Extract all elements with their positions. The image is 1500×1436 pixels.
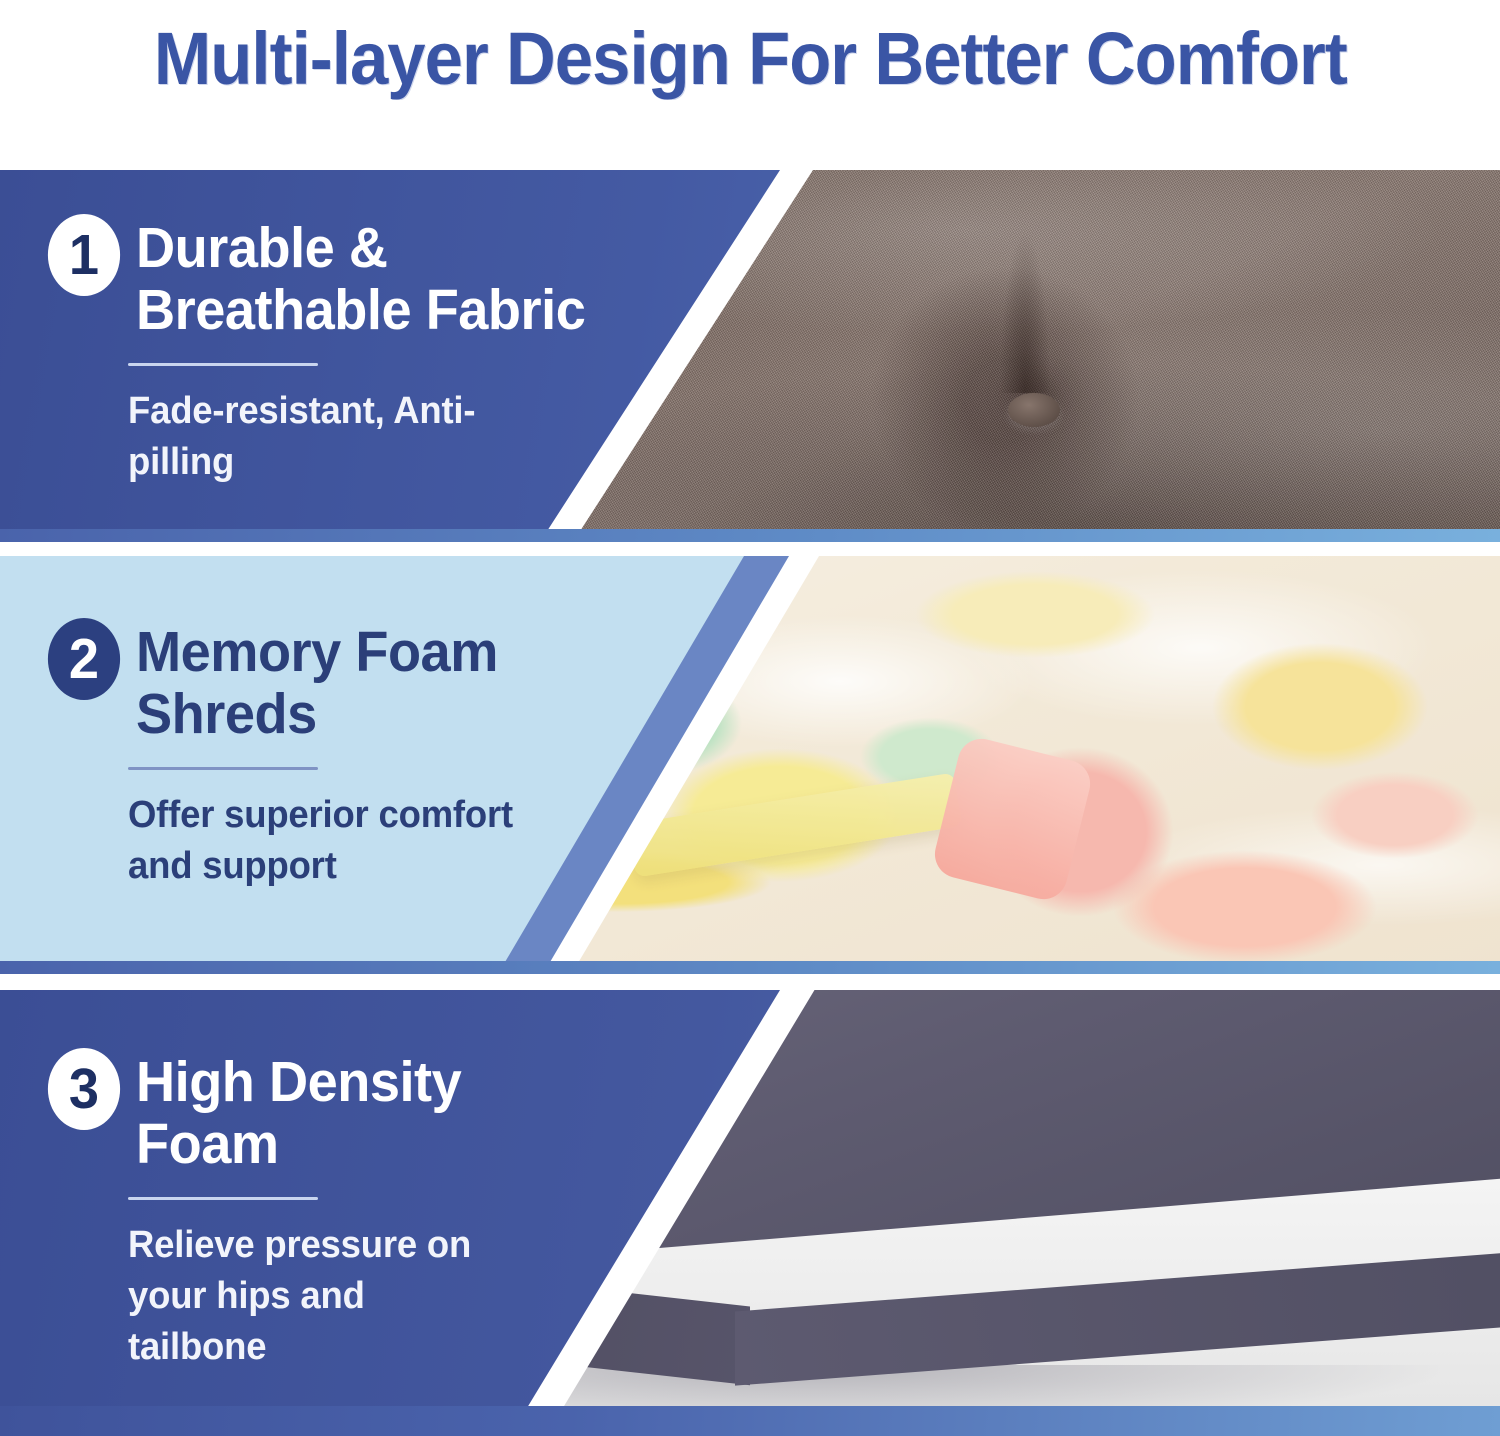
panel-1-heading-row: 1 Durable & Breathable Fabric <box>46 214 696 341</box>
fabric-tuft-button <box>1008 393 1060 427</box>
page-title-bar: Multi-layer Design For Better Comfort <box>0 0 1500 118</box>
foam-shred-pink <box>930 734 1095 905</box>
panel-1-heading: Durable & Breathable Fabric <box>136 214 668 341</box>
panel-3-divider <box>128 1197 318 1200</box>
panel-2-subtext: Offer superior comfort and support <box>128 790 579 892</box>
panel-3-subtext: Relieve pressure on your hips and tailbo… <box>128 1220 512 1373</box>
panel-3-heading: High Density Foam <box>136 1048 545 1175</box>
panel-1-content: 1 Durable & Breathable Fabric Fade-resis… <box>46 214 696 488</box>
bottom-accent-strip <box>0 1406 1500 1436</box>
step-number-badge-1: 1 <box>48 214 120 296</box>
panel-seam-1 <box>0 529 1500 542</box>
feature-panel-3: 3 High Density Foam Relieve pressure on … <box>0 990 1500 1436</box>
panel-2-heading-row: 2 Memory Foam Shreds <box>46 618 656 745</box>
fabric-seam <box>990 170 1060 393</box>
panel-3-heading-row: 3 High Density Foam <box>46 1048 566 1175</box>
panel-2-heading: Memory Foam Shreds <box>136 618 630 745</box>
panel-3-content: 3 High Density Foam Relieve pressure on … <box>46 1048 566 1373</box>
step-number-badge-3: 3 <box>48 1048 120 1130</box>
panel-2-content: 2 Memory Foam Shreds Offer superior comf… <box>46 618 656 892</box>
step-number-badge-2: 2 <box>48 618 120 700</box>
panel-2-divider <box>128 767 318 770</box>
panel-seam-2 <box>0 961 1500 974</box>
panel-1-divider <box>128 363 318 366</box>
panel-1-subtext: Fade-resistant, Anti-pilling <box>128 386 541 488</box>
feature-panel-2: 2 Memory Foam Shreds Offer superior comf… <box>0 556 1500 974</box>
page-title: Multi-layer Design For Better Comfort <box>153 20 1346 98</box>
feature-panel-1: 1 Durable & Breathable Fabric Fade-resis… <box>0 170 1500 542</box>
